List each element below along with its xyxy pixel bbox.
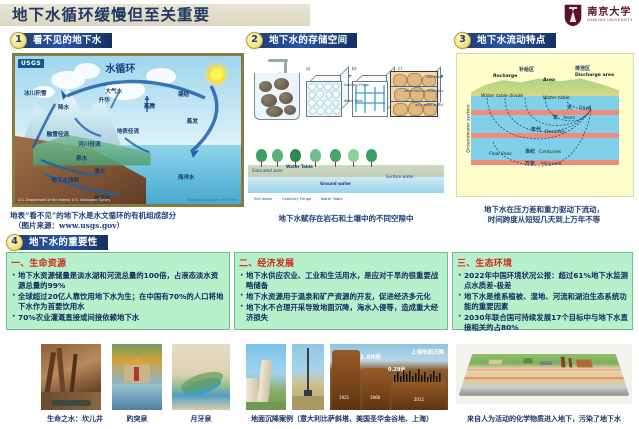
label-years: Years bbox=[563, 116, 575, 121]
university-logo: 南京大学 NANJING UNIVERSITY bbox=[563, 2, 633, 28]
photo-crescent-lake bbox=[172, 344, 230, 410]
column-list-life: 地下水资源储量是淡水湖和河流总量的100倍，占液态淡水资源总量的99% 全球超过… bbox=[11, 271, 225, 323]
list-item: 2022年中国环境状况公报：超过61%地下水监测点水质差-极差 bbox=[457, 271, 628, 291]
stone bbox=[274, 78, 289, 90]
label-transpiration: 蒸腾 bbox=[144, 102, 155, 110]
label-surface-water: Surface water bbox=[386, 174, 414, 179]
block-label-a: a) bbox=[306, 67, 311, 72]
chart-year-1921: 1921 bbox=[339, 395, 349, 400]
tree-icon bbox=[272, 149, 283, 167]
section-label-4: 地下水的重要性 bbox=[17, 235, 108, 250]
tree-icon bbox=[348, 149, 359, 167]
stone bbox=[266, 106, 283, 117]
label-discharge-area: Discharge area bbox=[575, 73, 614, 78]
figure-agency: U.S. Department of the Interior U.S. Geo… bbox=[18, 198, 110, 202]
column-title-life: 一、生命资源 bbox=[11, 256, 225, 269]
photo-san-joaquin-subsidence-pole bbox=[292, 344, 324, 410]
photo-caption-subsidence: 地面沉降案例（意大利比萨斜塔、美国圣华金谷地、上海） bbox=[236, 414, 448, 424]
inset-label-held-water: water held by molecules bbox=[404, 89, 443, 93]
label-decades: Decades bbox=[545, 130, 565, 135]
pisa-cathedral bbox=[246, 378, 258, 404]
list-item: 2030年联合国可持续发展17个目标中与地下水直接相关的占80% bbox=[457, 313, 628, 333]
stone bbox=[279, 92, 293, 104]
photo-shanghai-subsidence-chart: 1921 1966 2011 1.69米 0.29米 上海地面沉降 bbox=[330, 344, 448, 410]
section-number-3: 3 bbox=[454, 32, 471, 49]
section-number-4: 4 bbox=[6, 234, 23, 251]
section-label-2: 地下水的存储空间 bbox=[257, 33, 357, 48]
label-ocean-water: 海洋水 bbox=[178, 173, 195, 181]
label-millennia: Millennia bbox=[541, 162, 562, 167]
importance-column-ecology: 三、生态环境 2022年中国环境状况公报：超过61%地下水监测点水质差-极差 地… bbox=[452, 252, 633, 330]
porosity-block-b bbox=[352, 75, 393, 117]
groundwater-storage-figure: a) b) bbox=[248, 53, 444, 201]
photo-karez bbox=[41, 344, 101, 410]
contamination-block-diagram bbox=[459, 354, 630, 396]
label-snowmelt-runoff: 融雪径流 bbox=[47, 130, 69, 138]
logo-name-cn: 南京大学 bbox=[587, 7, 633, 18]
label-centuries-cn: 世纪 bbox=[525, 148, 535, 155]
inset-label-capillary-fringe: Capillary Fringe bbox=[344, 83, 369, 87]
list-item: 地下水资源用于温泉和矿产资源的开发，促进经济多元化 bbox=[239, 292, 443, 302]
section-number-2: 2 bbox=[246, 32, 263, 49]
label-saturated-zone: Saturated zone bbox=[252, 168, 283, 173]
label-days: Days bbox=[579, 106, 590, 111]
label-atmospheric-water: 大气水 bbox=[105, 87, 122, 95]
water-table-cross-section: Saturated zone Water Table Ground water … bbox=[248, 123, 444, 197]
list-item: 地下水不合理开采导致地面沉降，海水入侵等，造成重大经济损失 bbox=[239, 303, 443, 323]
section-number-1: 1 bbox=[10, 32, 27, 49]
label-recharge-area-cn: 补给区 bbox=[519, 66, 534, 73]
column-title-economy: 二、经济发展 bbox=[239, 256, 443, 269]
importance-column-life: 一、生命资源 地下水资源储量是淡水湖和河流总量的100倍，占液态淡水资源总量的9… bbox=[6, 252, 230, 330]
column-title-ecology: 三、生态环境 bbox=[457, 256, 628, 269]
list-item: 地下水供应农业、工业和生活用水，是应对干旱的很重要战略储备 bbox=[239, 271, 443, 291]
legend-soil-water: Soil water bbox=[254, 196, 273, 201]
label-precipitation: 降水 bbox=[58, 103, 69, 111]
section-heading-1: 1 看不见的地下水 bbox=[10, 32, 112, 48]
photo-caption-baotu: 趵突泉 bbox=[112, 414, 162, 424]
photo-caption-contamination: 来自人为活动的化学物质进入地下，污染了地下水 bbox=[452, 414, 636, 424]
inset-label-drain-water: only water drains bbox=[415, 103, 443, 107]
label-years-cn: 年 bbox=[553, 114, 558, 121]
label-water-table: Water table bbox=[543, 96, 570, 101]
leaning-tower bbox=[257, 360, 273, 405]
list-item: 地下水是维系植被、湿地、河流和湖泊生态系统功能的重要因素 bbox=[457, 292, 628, 312]
spark-bars bbox=[392, 368, 446, 382]
photo-leaning-tower-of-pisa bbox=[246, 344, 286, 410]
legend-capillary-fringe: Capillary Fringe bbox=[282, 196, 312, 201]
list-item: 70%农业灌溉直接或间接依赖地下水 bbox=[11, 313, 225, 323]
water-cycle-figure: USGS 水循环 大气水 凝结 蒸发 降水 冰川积雪 升华 蒸腾 融雪径流 地表… bbox=[12, 53, 244, 207]
label-streamflow: 河川径流 bbox=[78, 140, 100, 148]
block-front-face bbox=[306, 81, 342, 117]
photo-baotu-spring bbox=[112, 344, 162, 410]
panel3-caption-line1: 地下水在压力差和重力驱动下流动， bbox=[456, 205, 632, 215]
block-label-b: b) bbox=[352, 67, 357, 72]
subsidence-bar-chart: 1921 1966 2011 1.69米 0.29米 上海地面沉降 bbox=[330, 344, 448, 410]
logo-wordmark: 南京大学 NANJING UNIVERSITY bbox=[587, 7, 633, 23]
porosity-block-a bbox=[306, 75, 347, 117]
beaker-with-stones bbox=[254, 73, 300, 120]
legend-water-table: Water Table bbox=[320, 196, 342, 201]
figure-credit: Illustration by John M. Evans bbox=[187, 198, 238, 202]
label-surface-runoff: 地表径流 bbox=[117, 127, 139, 135]
figure-title: 水循环 bbox=[105, 60, 135, 75]
list-item: 地下水资源储量是淡水湖和河流总量的100倍，占液态淡水资源总量的99% bbox=[11, 271, 225, 291]
section-heading-3: 3 地下水流动特点 bbox=[454, 32, 556, 48]
panel1-caption-line2: （图片来源：www.usgs.gov） bbox=[14, 221, 244, 231]
column-list-ecology: 2022年中国环境状况公报：超过61%地下水监测点水质差-极差 地下水是维系植被… bbox=[457, 271, 628, 333]
section-heading-2: 2 地下水的存储空间 bbox=[246, 32, 357, 48]
label-infiltration: 渗水 bbox=[94, 167, 105, 175]
section-label-1: 看不见的地下水 bbox=[21, 33, 112, 48]
label-snow-ice: 冰川积雪 bbox=[24, 89, 46, 97]
chart-year-1966: 1966 bbox=[370, 395, 380, 400]
column-list-economy: 地下水供应农业、工业和生活用水，是应对干旱的很重要战略储备 地下水资源用于温泉和… bbox=[239, 271, 443, 323]
label-area: Area bbox=[543, 78, 555, 83]
label-millennia-cn: 万年 bbox=[525, 160, 535, 167]
panel1-caption-line1: 地表“看不见”的地下水是水文循环的有机组成部分 bbox=[10, 211, 240, 221]
inset-label-soil-water: Soil Water bbox=[427, 75, 443, 79]
label-discharge-area-cn: 排泄区 bbox=[575, 65, 590, 72]
label-recharge: Recharge bbox=[493, 74, 517, 79]
label-flow-lines: Flow lines bbox=[489, 152, 512, 157]
stone bbox=[259, 81, 272, 92]
importance-column-economy: 二、经济发展 地下水供应农业、工业和生活用水，是应对干旱的很重要战略储备 地下水… bbox=[234, 252, 448, 330]
page-header: 地下水循环缓慢但至关重要 南京大学 NANJING UNIVERSITY bbox=[0, 0, 639, 30]
label-groundwater-system: Groundwater system bbox=[467, 104, 472, 152]
label-decades-cn: 年代 bbox=[531, 126, 541, 133]
list-item: 全球超过20亿人靠饮用地下水为生；在中国有70%的人口将地下水作为首要饮用水 bbox=[11, 292, 225, 312]
label-ground-water: Ground water bbox=[320, 181, 351, 186]
chart-year-2011: 2011 bbox=[414, 397, 424, 402]
section-label-3: 地下水流动特点 bbox=[465, 33, 556, 48]
label-condensation: 凝结 bbox=[178, 90, 189, 98]
nanjing-university-shield-icon bbox=[563, 3, 583, 27]
logo-name-en: NANJING UNIVERSITY bbox=[587, 18, 633, 23]
label-water-table: Water Table bbox=[286, 164, 313, 169]
chart-title: 上海地面沉降 bbox=[411, 348, 444, 356]
photo-caption-crescent: 月牙泉 bbox=[172, 414, 230, 424]
label-sublimation: 升华 bbox=[99, 96, 110, 104]
label-spring: 泉水 bbox=[76, 154, 87, 162]
label-days-cn: 天 bbox=[567, 104, 572, 111]
groundwater-flow-figure: 补给区 排泄区 Recharge Area Discharge area Wat… bbox=[456, 53, 634, 197]
photo-groundwater-contamination bbox=[456, 344, 632, 404]
label-evaporation: 蒸发 bbox=[187, 117, 198, 125]
stone bbox=[284, 105, 296, 115]
label-groundwater-discharge: 地下水排泄 bbox=[51, 176, 79, 184]
section-heading-4: 4 地下水的重要性 bbox=[6, 234, 108, 250]
panel2-caption: 地下水赋存在岩石和土壤中的不同空隙中 bbox=[248, 214, 444, 224]
chart-value-1: 1.69米 bbox=[360, 352, 381, 361]
faucet-stem-icon bbox=[284, 59, 287, 73]
tree-icon bbox=[256, 149, 267, 167]
tree-icon bbox=[330, 149, 341, 167]
label-centuries: Centuries bbox=[539, 150, 561, 155]
tree-icon bbox=[366, 149, 377, 167]
label-water-table-divide: Water table divide bbox=[481, 94, 523, 99]
figure-legend: Soil water Capillary Fringe Water Table bbox=[254, 196, 343, 201]
inset-label-water-table: Water Table bbox=[344, 99, 363, 103]
usgs-logo: USGS bbox=[18, 59, 44, 68]
panel3-caption-line2: 时间跨度从短短几天到上万年不等 bbox=[456, 215, 632, 225]
page-title: 地下水循环缓慢但至关重要 bbox=[12, 5, 210, 25]
